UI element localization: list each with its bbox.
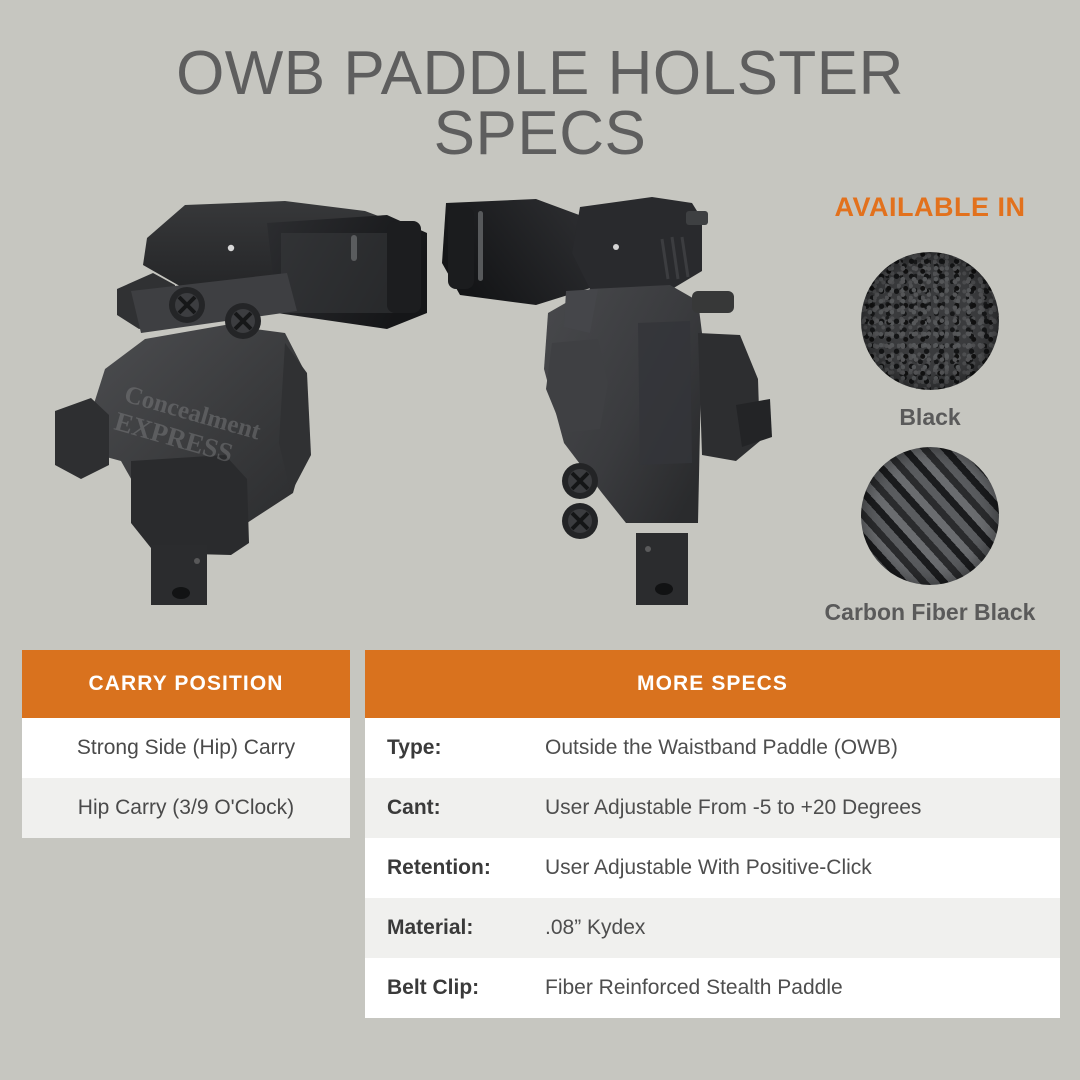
trigger-guard-pocket [546,339,608,433]
spec-value: .08” Kydex [545,916,645,940]
carry-position-header: CARRY POSITION [22,650,350,718]
retention-screw-1 [562,463,598,499]
table-row: Retention: User Adjustable With Positive… [365,838,1060,898]
table-row: Belt Clip: Fiber Reinforced Stealth Padd… [365,958,1060,1018]
grip-groove [478,211,483,281]
paddle-tab [692,291,734,313]
rear-sight [686,211,708,225]
carbon-fiber-swatch[interactable] [861,447,999,585]
title-line-1: OWB PADDLE HOLSTER [176,39,904,108]
grip-backstrap [387,221,421,313]
page-title: OWB PADDLE HOLSTER SPECS [0,44,1080,164]
available-in-section: AVAILABLE IN [790,192,1070,223]
holster-front-view: Concealment EXPRESS [35,193,430,613]
retention-screw-1 [169,287,205,323]
black-texture-swatch[interactable] [861,252,999,390]
title-line-2: SPECS [0,104,1080,164]
spec-label: Cant: [387,796,545,820]
spec-label: Retention: [387,856,545,880]
table-row: Cant: User Adjustable From -5 to +20 Deg… [365,778,1060,838]
spec-label: Material: [387,916,545,940]
tongue-hole [655,583,673,595]
table-row: Hip Carry (3/9 O'Clock) [22,778,350,838]
retention-screw-2 [225,303,261,339]
spec-value: Fiber Reinforced Stealth Paddle [545,976,843,1000]
swatch-label-black: Black [790,404,1070,431]
swatch-item-black[interactable]: Black [790,252,1070,431]
product-image-group: Concealment EXPRESS [0,185,790,625]
swatch-label-carbon-fiber: Carbon Fiber Black [790,599,1070,626]
takedown-pin [228,245,234,251]
swatch-item-carbon-fiber[interactable]: Carbon Fiber Black [790,447,1070,626]
takedown-pin [613,244,619,250]
more-specs-table: MORE SPECS Type: Outside the Waistband P… [365,650,1060,1018]
table-row: Strong Side (Hip) Carry [22,718,350,778]
tongue-pin [194,558,200,564]
carry-position-table: CARRY POSITION Strong Side (Hip) Carry H… [22,650,350,838]
spec-value: Outside the Waistband Paddle (OWB) [545,736,898,760]
paddle-hook [55,398,109,479]
table-row: Material: .08” Kydex [365,898,1060,958]
tongue-hole [172,587,190,599]
table-row: Type: Outside the Waistband Paddle (OWB) [365,718,1060,778]
spec-label: Belt Clip: [387,976,545,1000]
spec-label: Type: [387,736,545,760]
retention-screw-2 [562,503,598,539]
spec-value: User Adjustable With Positive-Click [545,856,872,880]
tongue-pin [645,546,651,552]
carry-position-value: Hip Carry (3/9 O'Clock) [78,796,294,820]
grip-pin [351,235,357,261]
paddle-hook [736,399,772,447]
more-specs-header: MORE SPECS [365,650,1060,718]
available-in-heading: AVAILABLE IN [790,192,1070,223]
spec-value: User Adjustable From -5 to +20 Degrees [545,796,921,820]
carry-position-value: Strong Side (Hip) Carry [77,736,295,760]
holster-rear-view [440,193,790,613]
light-channel [638,321,692,465]
holster-shell [131,455,249,555]
infographic-page: OWB PADDLE HOLSTER SPECS [0,0,1080,1080]
grip-backstrap [448,207,474,289]
